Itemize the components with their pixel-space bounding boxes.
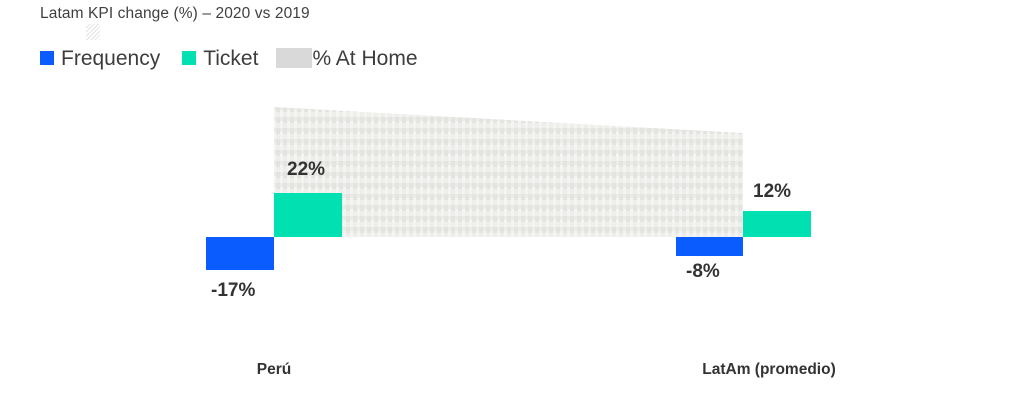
at-home-band-shape (274, 107, 743, 237)
chart-container: Latam KPI change (%) – 2020 vs 2019 Freq… (0, 0, 1014, 400)
category-label-latam: LatAm (promedio) (653, 362, 885, 378)
plot-area: 22% -17% 12% -8% Perú LatAm (promedio) (0, 0, 1014, 400)
value-label-ticket-peru: 22% (287, 160, 325, 179)
category-label-peru: Perú (184, 362, 364, 378)
bar-ticket-peru[interactable] (274, 193, 342, 237)
at-home-band (0, 0, 1014, 400)
value-label-frequency-latam: -8% (686, 262, 720, 281)
value-label-ticket-latam: 12% (753, 182, 791, 201)
value-label-frequency-peru: -17% (211, 281, 255, 300)
bar-frequency-latam[interactable] (676, 237, 743, 256)
bar-frequency-peru[interactable] (206, 237, 274, 270)
bar-ticket-latam[interactable] (743, 211, 811, 237)
